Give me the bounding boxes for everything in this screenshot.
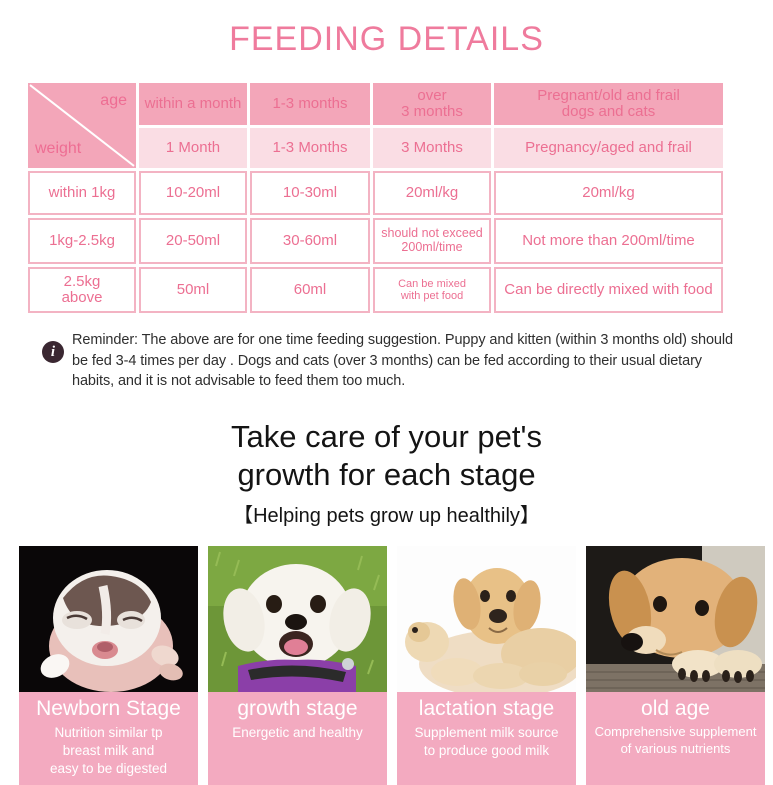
caption-title: lactation stage xyxy=(401,697,572,721)
caption-sub-line2: breast milk and xyxy=(23,743,194,758)
caption-growth: growth stage Energetic and healthy xyxy=(208,692,387,754)
table-row: 2.5kg above 50ml 60ml Can be mixed with … xyxy=(28,267,723,313)
row2-pregnant-old-frail: Not more than 200ml/time xyxy=(494,218,723,264)
header2-1-month: 1 Month xyxy=(139,128,247,168)
row3-weight: 2.5kg above xyxy=(28,267,136,313)
row3-over-3-months-line2: with pet food xyxy=(375,290,489,302)
section-subheading: 【Helping pets grow up healthily】 xyxy=(0,499,773,528)
row3-pregnant-old-frail: Can be directly mixed with food xyxy=(494,267,723,313)
reminder-text: Reminder: The above are for one time fee… xyxy=(72,330,743,392)
header2-pregnancy-aged-frail: Pregnancy/aged and frail xyxy=(494,128,723,168)
row2-over-3-months-line2: 200ml/time xyxy=(375,241,489,255)
caption-sub-line2: of various nutrients xyxy=(590,742,761,757)
header-over-3-months-line2: 3 months xyxy=(373,104,491,121)
header-col-pregnant-old-frail: Pregnant/old and frail dogs and cats xyxy=(494,83,723,125)
stage-card-newborn[interactable]: Newborn Stage Nutrition similar tp breas… xyxy=(19,546,198,784)
info-icon: i xyxy=(42,341,64,363)
table-header-row-1: age weight within a month 1-3 months ove… xyxy=(28,83,723,125)
row1-over-3-months: 20ml/kg xyxy=(373,171,491,215)
row3-weight-line2: above xyxy=(30,290,134,307)
caption-old-age: old age Comprehensive supplement of vari… xyxy=(586,692,765,765)
white-maltese-dog-photo xyxy=(208,546,387,692)
newborn-puppy-photo xyxy=(19,546,198,692)
caption-sub-line1: Nutrition similar tp xyxy=(23,725,194,740)
caption-newborn: Newborn Stage Nutrition similar tp breas… xyxy=(19,692,198,784)
header2-3-months: 3 Months xyxy=(373,128,491,168)
row1-pregnant-old-frail: 20ml/kg xyxy=(494,171,723,215)
row2-over-3-months: should not exceed 200ml/time xyxy=(373,218,491,264)
header-weight-label: weight xyxy=(35,140,81,158)
caption-sub-line2: to produce good milk xyxy=(401,743,572,758)
header-corner-cell: age weight xyxy=(28,83,136,168)
golden-retriever-nursing-photo xyxy=(397,546,576,692)
table-row: 1kg-2.5kg 20-50ml 30-60ml should not exc… xyxy=(28,218,723,264)
caption-sub-line1: Energetic and healthy xyxy=(212,725,383,740)
header-pregnant-line2: dogs and cats xyxy=(494,104,723,121)
caption-title: growth stage xyxy=(212,697,383,721)
header-col-1-3-months: 1-3 months xyxy=(250,83,370,125)
header-age-label: age xyxy=(100,92,127,110)
stage-cards: Newborn Stage Nutrition similar tp breas… xyxy=(19,546,754,784)
stage-card-lactation[interactable]: lactation stage Supplement milk source t… xyxy=(397,546,576,784)
row3-over-3-months-line1: Can be mixed xyxy=(375,278,489,290)
row1-within-a-month: 10-20ml xyxy=(139,171,247,215)
table-row: within 1kg 10-20ml 10-30ml 20ml/kg 20ml/… xyxy=(28,171,723,215)
header-col-over-3-months: over 3 months xyxy=(373,83,491,125)
caption-title: Newborn Stage xyxy=(23,697,194,721)
row1-weight: within 1kg xyxy=(28,171,136,215)
feeding-table: age weight within a month 1-3 months ove… xyxy=(25,80,726,316)
row2-over-3-months-line1: should not exceed xyxy=(375,227,489,241)
page-title: FEEDING DETAILS xyxy=(0,0,773,56)
row1-1-3-months: 10-30ml xyxy=(250,171,370,215)
old-golden-retriever-photo xyxy=(586,546,765,692)
row3-within-a-month: 50ml xyxy=(139,267,247,313)
caption-title: old age xyxy=(590,697,761,721)
caption-sub-line1: Comprehensive supplement xyxy=(590,725,761,740)
caption-sub-line3: easy to be digested xyxy=(23,761,194,776)
row2-weight: 1kg-2.5kg xyxy=(28,218,136,264)
section-heading-line1: Take care of your pet's xyxy=(0,418,773,456)
header-col-within-a-month: within a month xyxy=(139,83,247,125)
stage-card-old-age[interactable]: old age Comprehensive supplement of vari… xyxy=(586,546,765,784)
row2-1-3-months: 30-60ml xyxy=(250,218,370,264)
header-over-3-months-line1: over xyxy=(373,88,491,105)
header2-1-3-months: 1-3 Months xyxy=(250,128,370,168)
row3-weight-line1: 2.5kg xyxy=(30,274,134,291)
section-heading: Take care of your pet's growth for each … xyxy=(0,418,773,529)
reminder-block: i Reminder: The above are for one time f… xyxy=(42,330,743,392)
caption-lactation: lactation stage Supplement milk source t… xyxy=(397,692,576,766)
row3-over-3-months: Can be mixed with pet food xyxy=(373,267,491,313)
row3-1-3-months: 60ml xyxy=(250,267,370,313)
stage-card-growth[interactable]: growth stage Energetic and healthy xyxy=(208,546,387,784)
header-pregnant-line1: Pregnant/old and frail xyxy=(494,88,723,105)
row2-within-a-month: 20-50ml xyxy=(139,218,247,264)
feeding-table-wrapper: age weight within a month 1-3 months ove… xyxy=(25,80,720,316)
caption-sub-line1: Supplement milk source xyxy=(401,725,572,740)
section-heading-line2: growth for each stage xyxy=(0,456,773,494)
